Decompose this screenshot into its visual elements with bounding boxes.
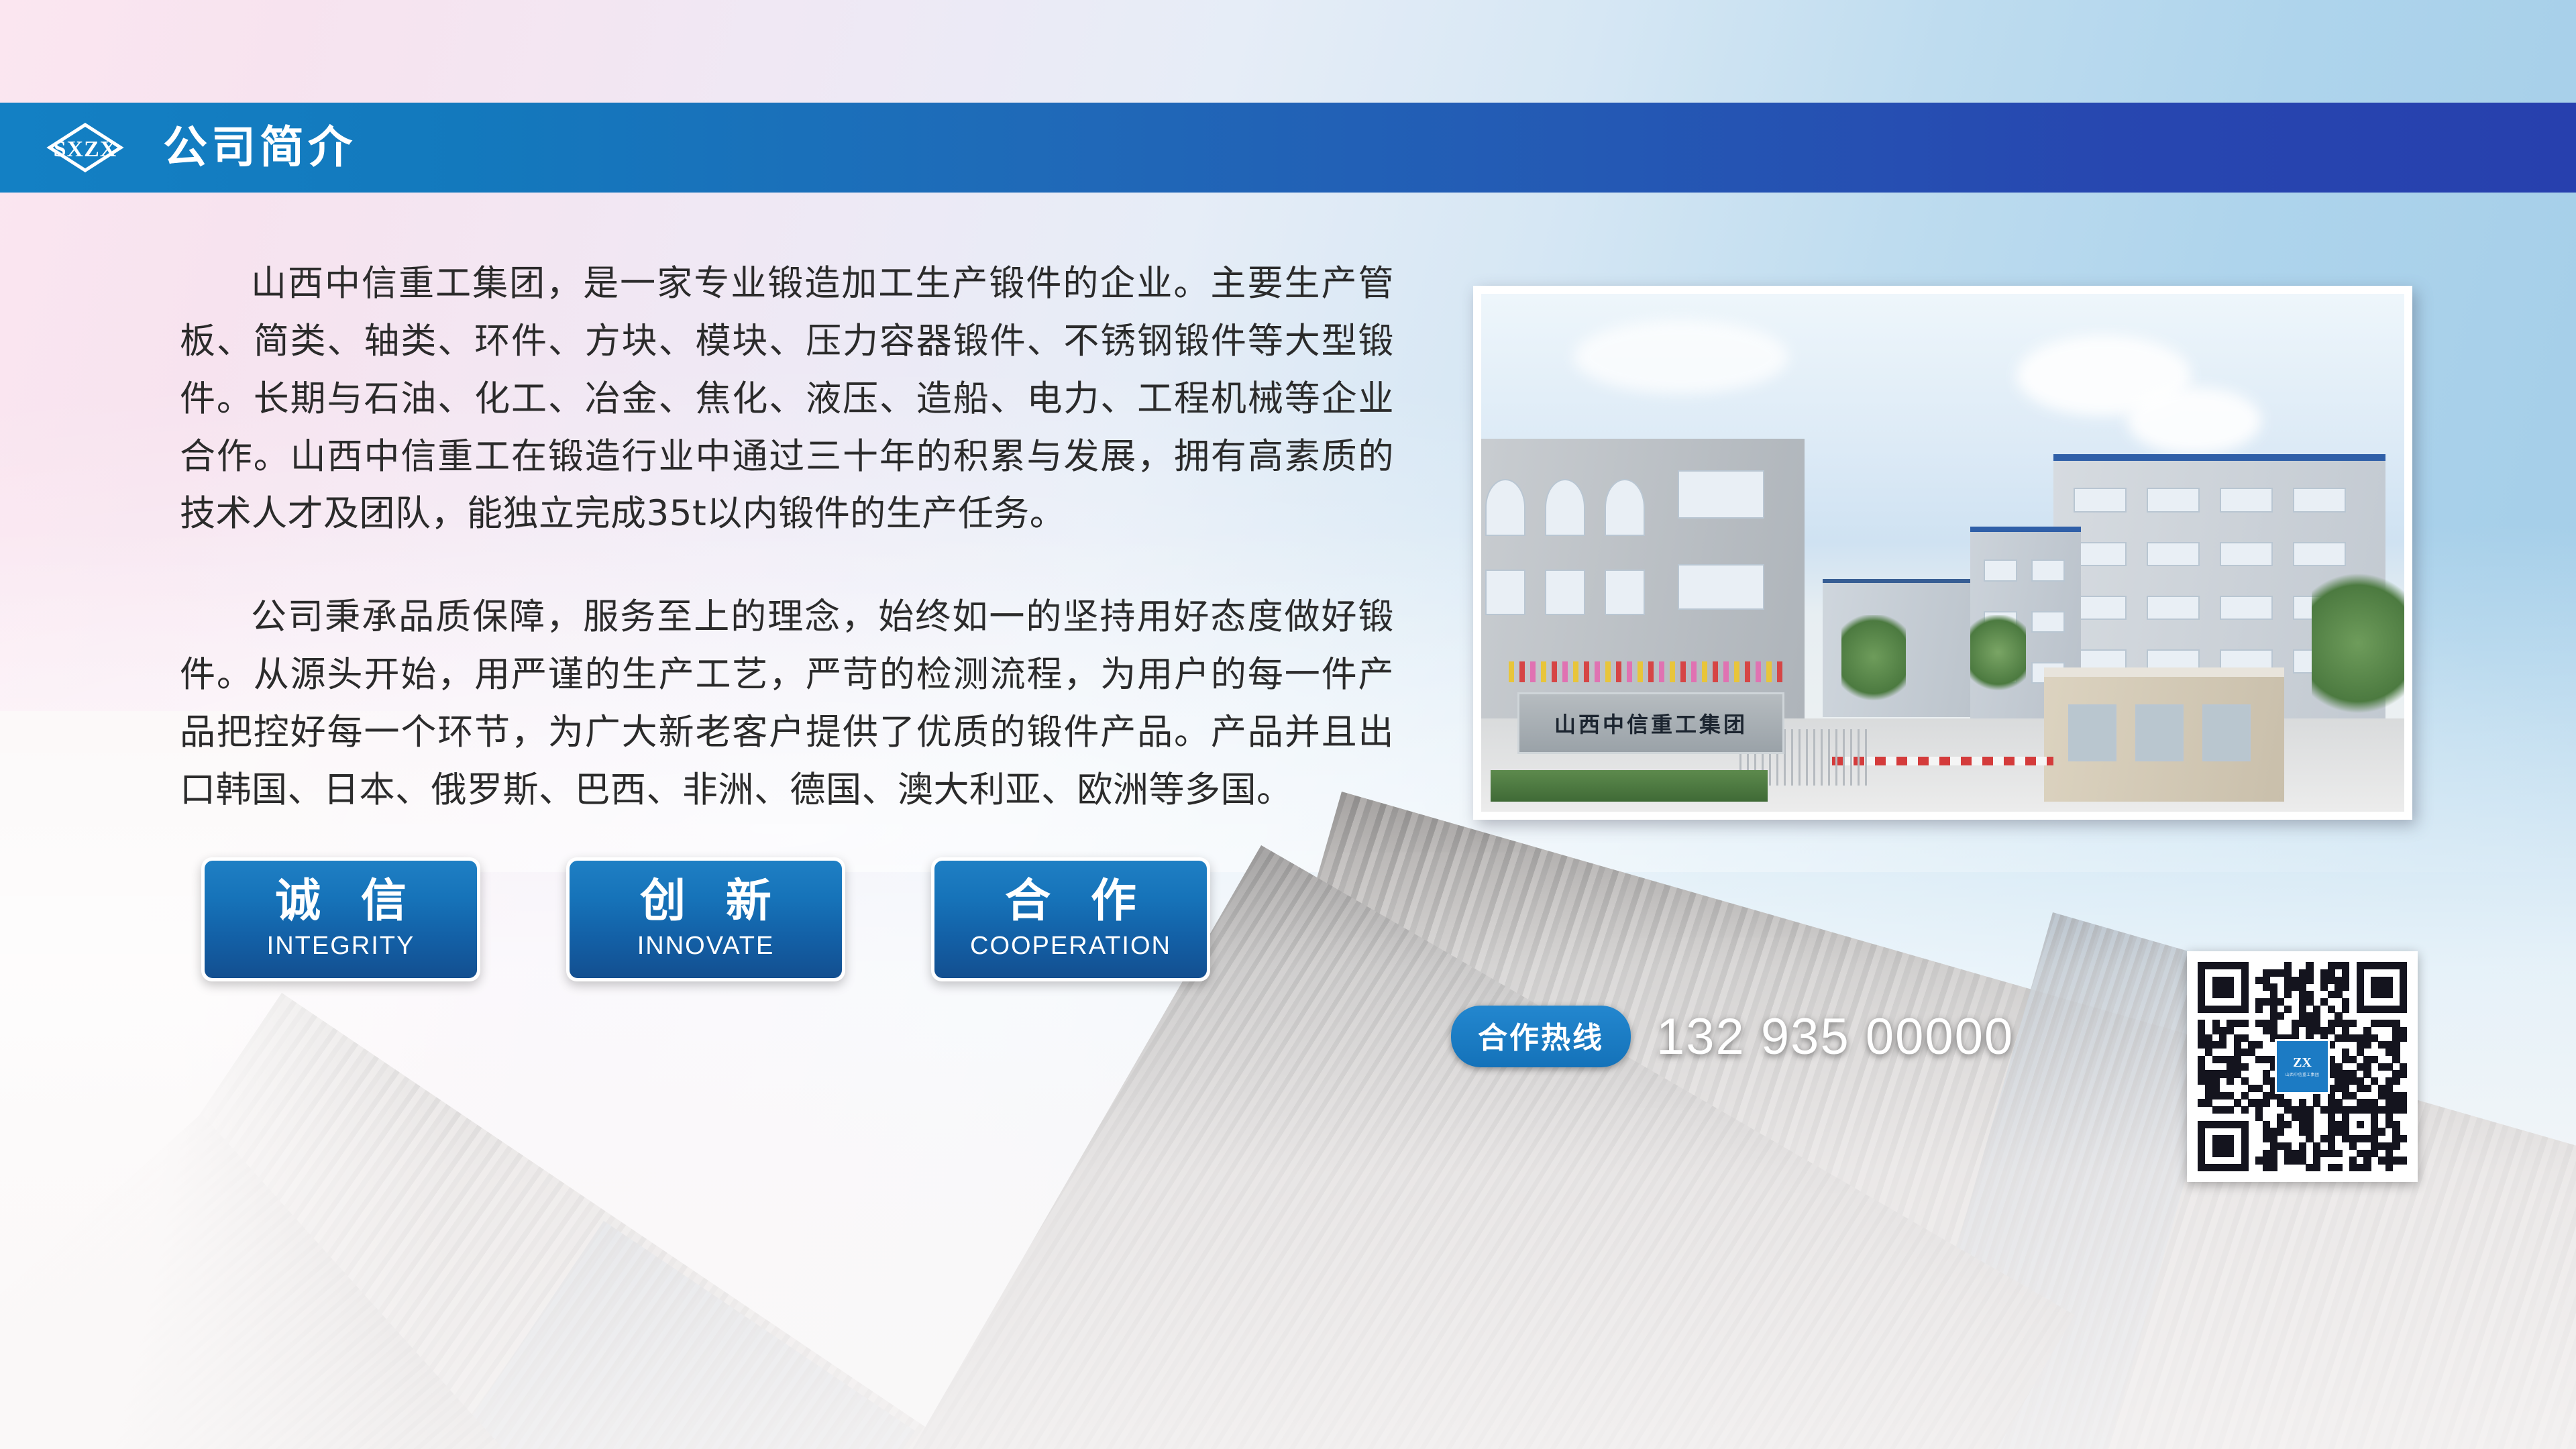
guard-house <box>2044 667 2284 801</box>
value-label-en: INNOVATE <box>590 932 822 961</box>
svg-text:SXZX: SXZX <box>54 137 117 162</box>
tree <box>2312 574 2404 729</box>
value-label-en: INTEGRITY <box>225 932 457 961</box>
value-card-innovate-inner: 创 新 INNOVATE <box>570 861 842 978</box>
hotline-number[interactable]: 132 935 00000 <box>1656 1008 2014 1066</box>
hotline-block: 合作热线 132 935 00000 <box>1451 1006 2014 1067</box>
factory-sign: 山西中信重工集团 <box>1517 692 1784 754</box>
paragraph-2: 公司秉承品质保障，服务至上的理念，始终如一的坚持用好态度做好锻件。从源头开始，用… <box>180 588 1394 818</box>
core-values-row: 诚 信 INTEGRITY 创 新 INNOVATE 合 作 COOPERATI… <box>201 857 1210 981</box>
hexagon-logo-icon: SXZX <box>46 123 125 172</box>
factory-entrance-photo: 山西中信重工集团 <box>1481 294 2404 812</box>
value-label-cn: 合 作 <box>955 875 1187 928</box>
page-header-banner: SXZX 公司简介 <box>0 103 2576 193</box>
factory-photo-frame: 山西中信重工集团 <box>1473 286 2412 820</box>
paragraph-1: 山西中信重工集团，是一家专业锻造加工生产锻件的企业。主要生产管板、简类、轴类、环… <box>180 255 1394 543</box>
value-card-innovate[interactable]: 创 新 INNOVATE <box>566 857 845 981</box>
value-label-cn: 诚 信 <box>225 875 457 928</box>
value-card-integrity[interactable]: 诚 信 INTEGRITY <box>201 857 480 981</box>
value-card-integrity-inner: 诚 信 INTEGRITY <box>205 861 477 978</box>
company-description: 山西中信重工集团，是一家专业锻造加工生产锻件的企业。主要生产管板、简类、轴类、环… <box>180 255 1394 819</box>
qr-center-logo: ZX 山西中信重工集团 <box>2275 1039 2330 1094</box>
qr-logo-text: ZX <box>2293 1056 2312 1069</box>
value-label-en: COOPERATION <box>955 932 1187 961</box>
wechat-qr-code[interactable]: ZX 山西中信重工集团 <box>2187 951 2418 1182</box>
page-title: 公司简介 <box>163 125 356 170</box>
cloud <box>1574 320 1788 394</box>
decorative-flags <box>1509 661 1786 682</box>
value-card-cooperation-inner: 合 作 COOPERATION <box>934 861 1207 978</box>
cloud <box>2127 387 2261 454</box>
hotline-label: 合作热线 <box>1451 1006 1631 1067</box>
qr-logo-subtext: 山西中信重工集团 <box>2286 1071 2319 1077</box>
value-card-cooperation[interactable]: 合 作 COOPERATION <box>931 857 1210 981</box>
hedge <box>1491 770 1768 801</box>
tree <box>1841 615 1906 708</box>
tree <box>1970 615 2026 698</box>
value-label-cn: 创 新 <box>590 875 822 928</box>
